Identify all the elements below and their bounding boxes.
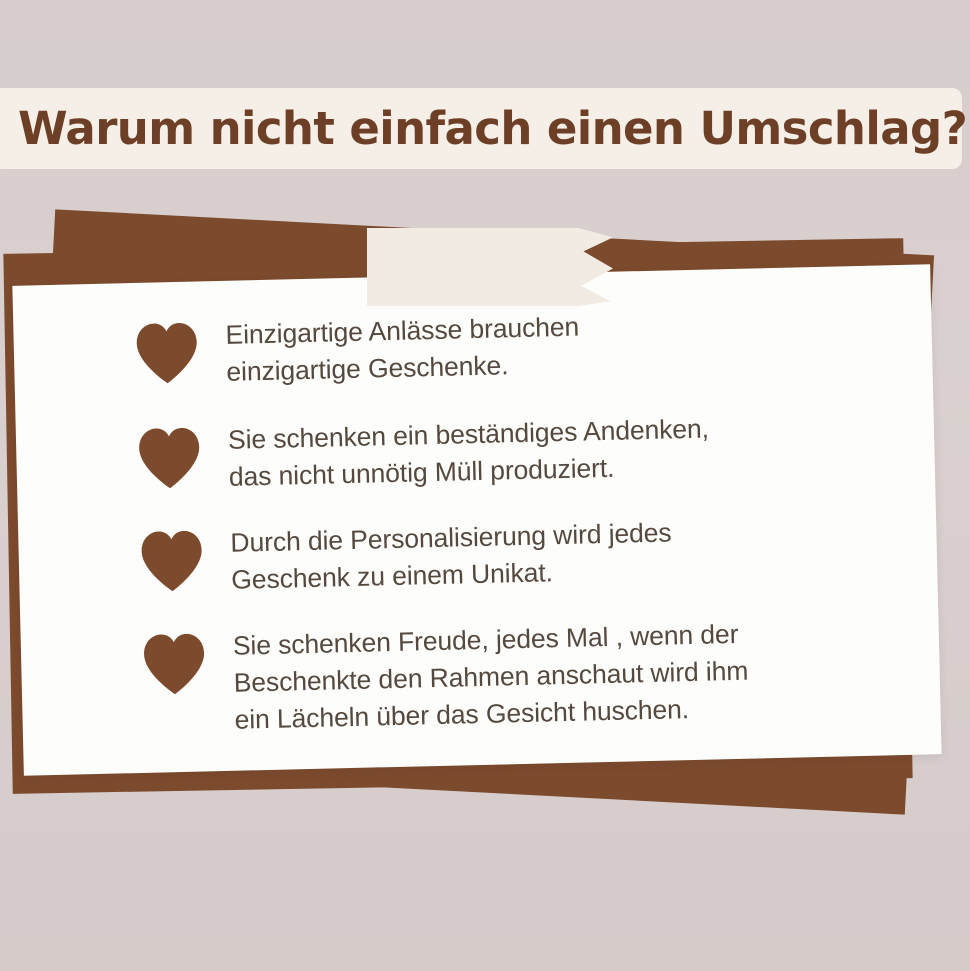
heart-icon <box>133 321 200 385</box>
list-item: Einzigartige Anlässe brauchen einzigarti… <box>133 301 903 392</box>
title-banner: Warum nicht einfach einen Umschlag? <box>0 88 962 169</box>
washi-tape <box>367 228 613 306</box>
list-item-text: Sie schenken Freude, jedes Mal , wenn de… <box>232 616 749 738</box>
list-item-text: Durch die Personalisierung wird jedes Ge… <box>230 515 673 598</box>
heart-icon <box>138 530 205 594</box>
content-card: Einzigartige Anlässe brauchen einzigarti… <box>12 264 941 775</box>
list-item-text: Einzigartige Anlässe brauchen einzigarti… <box>225 309 580 390</box>
heart-icon <box>136 427 203 491</box>
list-item: Sie schenken ein beständiges Andenken, d… <box>136 406 906 497</box>
list-item-text: Sie schenken ein beständiges Andenken, d… <box>228 411 711 495</box>
list-item: Sie schenken Freude, jedes Mal , wenn de… <box>141 612 911 740</box>
page-title: Warum nicht einfach einen Umschlag? <box>0 106 967 151</box>
list-item-line: einzigartige Geschenke. <box>226 345 580 390</box>
benefits-list: Einzigartige Anlässe brauchen einzigarti… <box>12 264 941 775</box>
list-item: Durch die Personalisierung wird jedes Ge… <box>138 509 908 600</box>
heart-icon <box>141 633 208 697</box>
poster-canvas: Warum nicht einfach einen Umschlag? Einz… <box>0 0 970 971</box>
